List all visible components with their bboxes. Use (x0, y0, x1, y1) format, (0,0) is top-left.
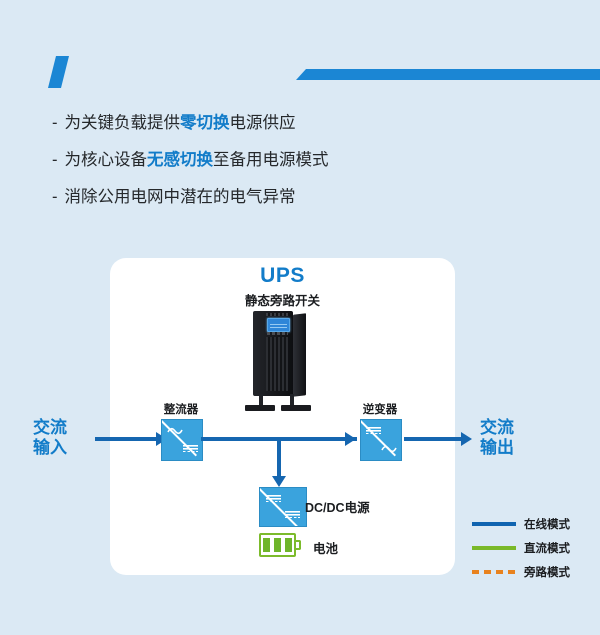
legend-label-bypass: 旁路模式 (524, 564, 570, 580)
dc-symbol-dash (183, 451, 198, 453)
ac-output-label-line1: 交流 (480, 418, 514, 438)
dc-symbol (183, 445, 198, 452)
legend-label-online: 在线模式 (524, 516, 570, 532)
ups-top-vents (266, 313, 288, 316)
legend-item-dc: 直流模式 (472, 540, 570, 556)
bullet-text-post: 至备用电源模式 (213, 149, 329, 173)
ac-output-label-line2: 输出 (480, 438, 514, 458)
legend-item-online: 在线模式 (472, 516, 570, 532)
header-rule (296, 69, 600, 80)
ac-input-label: 交流 输入 (33, 418, 67, 458)
inverter-block (360, 419, 402, 461)
ups-title: UPS (110, 264, 455, 288)
battery-cell (285, 538, 293, 552)
ups-chassis (253, 311, 293, 396)
bullet-text-highlight: 零切换 (180, 112, 230, 136)
battery-cell (274, 538, 282, 552)
legend: 在线模式 直流模式 旁路模式 (472, 516, 570, 588)
ac-output-label: 交流 输出 (480, 418, 514, 458)
ac-symbol (167, 427, 183, 435)
legend-swatch-bypass (472, 570, 516, 574)
bullet-text-post: 电源供应 (230, 112, 296, 136)
ups-front-vents (266, 337, 288, 391)
ups-foot-left (245, 405, 275, 411)
ups-lcd-content (270, 322, 287, 328)
dc-symbol (366, 427, 381, 434)
battery-shell (259, 533, 296, 557)
bullet-text-pre: 为关键负载提供 (65, 112, 181, 136)
battery-terminal (296, 540, 301, 550)
ac-input-label-line2: 输入 (33, 438, 67, 458)
wire-input (95, 437, 157, 441)
ups-device-image (243, 311, 315, 411)
rectifier-block (161, 419, 203, 461)
arrow-output (461, 432, 472, 446)
header-accent-slash-icon (48, 56, 69, 88)
bullet-text-pre: 消除公用电网中潜在的电气异常 (65, 186, 296, 210)
list-item: - 消除公用电网中潜在的电气异常 (52, 186, 522, 210)
ups-button-row (267, 332, 288, 335)
dc-symbol-input (266, 495, 281, 502)
wire-dcdc-branch (277, 437, 281, 477)
ups-foot-right (281, 405, 311, 411)
dc-symbol-output (285, 511, 300, 518)
legend-item-bypass: 旁路模式 (472, 564, 570, 580)
bullet-dash: - (52, 112, 58, 136)
bullet-text-highlight: 无感切换 (147, 149, 213, 173)
dcdc-label: DC/DC电源 (305, 497, 370, 516)
ups-lcd-screen (267, 318, 290, 332)
legend-label-dc: 直流模式 (524, 540, 570, 556)
arrow-dc-bus (345, 432, 356, 446)
bullet-dash: - (52, 149, 58, 173)
dc-symbol-dash (366, 433, 381, 435)
bullet-dash: - (52, 186, 58, 210)
bullet-text-pre: 为核心设备 (65, 149, 148, 173)
battery-icon (259, 533, 303, 557)
bullet-list: - 为关键负载提供 零切换 电源供应 - 为核心设备 无感切换 至备用电源模式 … (52, 112, 522, 223)
dcdc-block (259, 487, 307, 527)
dc-symbol-dash (266, 501, 281, 503)
converter-divider (259, 487, 298, 527)
ups-side-panel (293, 313, 306, 397)
list-item: - 为核心设备 无感切换 至备用电源模式 (52, 149, 522, 173)
battery-label: 电池 (313, 538, 338, 557)
ups-diagram: UPS 静态旁路开关 交流 输入 整流器 (0, 0, 600, 635)
legend-swatch-dc (472, 546, 516, 550)
wire-output (404, 437, 462, 441)
legend-swatch-online (472, 522, 516, 526)
rectifier-label: 整流器 (153, 401, 209, 417)
battery-cell (263, 538, 271, 552)
ac-symbol (381, 445, 397, 453)
arrow-dcdc-branch (272, 476, 286, 487)
dc-symbol-dash (285, 517, 300, 519)
inverter-label: 逆变器 (352, 401, 408, 417)
ups-subtitle: 静态旁路开关 (110, 290, 455, 309)
list-item: - 为关键负载提供 零切换 电源供应 (52, 112, 522, 136)
ac-input-label-line1: 交流 (33, 418, 67, 438)
